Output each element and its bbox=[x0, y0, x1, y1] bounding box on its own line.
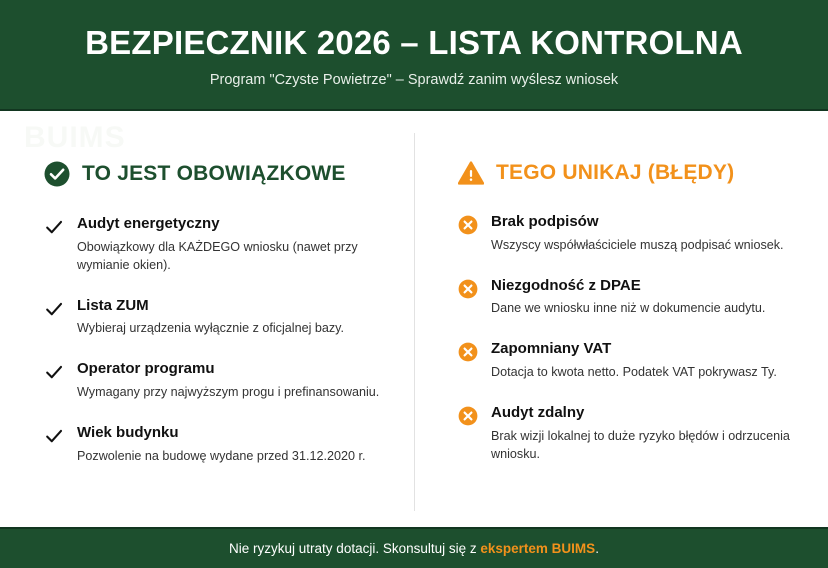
list-item-title: Wiek budynku bbox=[77, 424, 384, 443]
footer-tail: . bbox=[595, 541, 599, 556]
mandatory-heading: TO JEST OBOWIĄZKOWE bbox=[44, 161, 384, 187]
list-item: Operator programu Wymagany przy najwyższ… bbox=[44, 360, 384, 402]
list-item-desc: Pozwolenie na budowę wydane przed 31.12.… bbox=[77, 448, 384, 466]
list-item-body: Lista ZUM Wybieraj urządzenia wyłącznie … bbox=[77, 297, 384, 339]
list-item-body: Zapomniany VAT Dotacja to kwota netto. P… bbox=[491, 340, 804, 382]
page-footer: Nie ryzykuj utraty dotacji. Skonsultuj s… bbox=[0, 527, 828, 568]
check-icon bbox=[44, 362, 64, 382]
mistakes-heading-label: TEGO UNIKAJ (BŁĘDY) bbox=[496, 161, 734, 185]
list-item: Zapomniany VAT Dotacja to kwota netto. P… bbox=[458, 340, 804, 382]
list-item-title: Brak podpisów bbox=[491, 213, 804, 232]
mandatory-list: Audyt energetyczny Obowiązkowy dla KAŻDE… bbox=[44, 215, 384, 465]
mandatory-heading-label: TO JEST OBOWIĄZKOWE bbox=[82, 162, 346, 186]
warning-triangle-icon bbox=[458, 161, 484, 185]
x-circle-icon bbox=[458, 215, 478, 235]
footer-lead: Nie ryzykuj utraty dotacji. Skonsultuj s… bbox=[229, 541, 480, 556]
list-item-title: Zapomniany VAT bbox=[491, 340, 804, 359]
column-mistakes: TEGO UNIKAJ (BŁĘDY) Brak podpisów Wszysc… bbox=[414, 111, 828, 527]
page-subtitle: Program "Czyste Powietrze" – Sprawdź zan… bbox=[210, 72, 618, 88]
list-item: Wiek budynku Pozwolenie na budowę wydane… bbox=[44, 424, 384, 466]
list-item-desc: Brak wizji lokalnej to duże ryzyko błędó… bbox=[491, 428, 804, 464]
list-item: Brak podpisów Wszyscy współwłaściciele m… bbox=[458, 213, 804, 255]
list-item: Audyt zdalny Brak wizji lokalnej to duże… bbox=[458, 404, 804, 464]
list-item-desc: Dane we wniosku inne niż w dokumencie au… bbox=[491, 300, 804, 318]
x-circle-icon bbox=[458, 406, 478, 426]
list-item-title: Niezgodność z DPAE bbox=[491, 277, 804, 296]
list-item: Audyt energetyczny Obowiązkowy dla KAŻDE… bbox=[44, 215, 384, 275]
footer-accent-buims: ekspertem BUIMS bbox=[480, 541, 595, 556]
list-item-desc: Wymagany przy najwyższym progu i prefina… bbox=[77, 384, 384, 402]
list-item-title: Audyt zdalny bbox=[491, 404, 804, 423]
list-item-body: Wiek budynku Pozwolenie na budowę wydane… bbox=[77, 424, 384, 466]
column-divider bbox=[414, 133, 415, 511]
list-item-desc: Wszyscy współwłaściciele muszą podpisać … bbox=[491, 237, 804, 255]
x-circle-icon bbox=[458, 279, 478, 299]
column-mandatory: TO JEST OBOWIĄZKOWE Audyt energetyczny O… bbox=[0, 111, 414, 527]
footer-message: Nie ryzykuj utraty dotacji. Skonsultuj s… bbox=[229, 541, 599, 556]
infographic-root: BEZPIECZNIK 2026 – LISTA KONTROLNA Progr… bbox=[0, 0, 828, 568]
list-item-body: Niezgodność z DPAE Dane we wniosku inne … bbox=[491, 277, 804, 319]
list-item-desc: Dotacja to kwota netto. Podatek VAT pokr… bbox=[491, 364, 804, 382]
check-icon bbox=[44, 217, 64, 237]
check-icon bbox=[44, 426, 64, 446]
list-item-body: Audyt energetyczny Obowiązkowy dla KAŻDE… bbox=[77, 215, 384, 275]
list-item-body: Audyt zdalny Brak wizji lokalnej to duże… bbox=[491, 404, 804, 464]
check-icon bbox=[44, 299, 64, 319]
list-item-desc: Obowiązkowy dla KAŻDEGO wniosku (nawet p… bbox=[77, 239, 384, 275]
x-circle-icon bbox=[458, 342, 478, 362]
list-item-body: Operator programu Wymagany przy najwyższ… bbox=[77, 360, 384, 402]
list-item-body: Brak podpisów Wszyscy współwłaściciele m… bbox=[491, 213, 804, 255]
page-title: BEZPIECZNIK 2026 – LISTA KONTROLNA bbox=[85, 25, 743, 62]
list-item-title: Lista ZUM bbox=[77, 297, 384, 316]
check-circle-icon bbox=[44, 161, 70, 187]
mistakes-list: Brak podpisów Wszyscy współwłaściciele m… bbox=[458, 213, 804, 463]
mistakes-heading: TEGO UNIKAJ (BŁĘDY) bbox=[458, 161, 804, 185]
list-item-title: Audyt energetyczny bbox=[77, 215, 384, 234]
list-item: Lista ZUM Wybieraj urządzenia wyłącznie … bbox=[44, 297, 384, 339]
list-item-desc: Wybieraj urządzenia wyłącznie z oficjaln… bbox=[77, 320, 384, 338]
list-item: Niezgodność z DPAE Dane we wniosku inne … bbox=[458, 277, 804, 319]
page-header: BEZPIECZNIK 2026 – LISTA KONTROLNA Progr… bbox=[0, 0, 828, 111]
list-item-title: Operator programu bbox=[77, 360, 384, 379]
content-area: BUIMS TO JEST OBOWIĄZKOWE Audyt energety… bbox=[0, 111, 828, 527]
